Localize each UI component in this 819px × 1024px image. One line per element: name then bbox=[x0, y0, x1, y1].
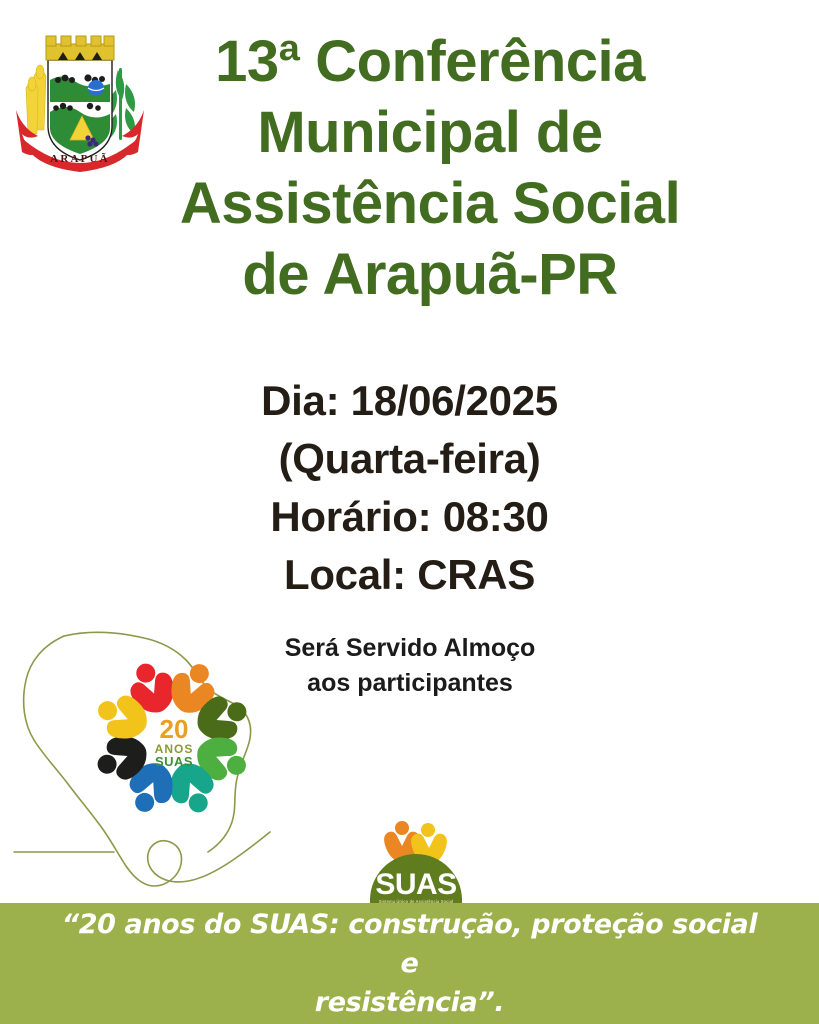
suas-logo-icon: SUAS Sistema Único de Assistência Social bbox=[364, 814, 468, 906]
title-line-3: Assistência Social bbox=[130, 168, 730, 239]
theme-line-1: “20 anos do SUAS: construção, proteção s… bbox=[55, 905, 765, 983]
suas-wordmark: SUAS bbox=[375, 868, 456, 901]
anos20-number: 20 bbox=[160, 714, 189, 744]
event-location: Local: CRAS bbox=[0, 546, 819, 604]
event-weekday: (Quarta-feira) bbox=[0, 430, 819, 488]
poster-header: ARAPUÃ 13ª Conferência Municipal de Assi… bbox=[0, 0, 819, 330]
event-date: Dia: 18/06/2025 bbox=[0, 372, 819, 430]
20-anos-suas-logo: 20 ANOS SUAS bbox=[96, 662, 248, 814]
title-line-1: 13ª Conferência bbox=[130, 26, 730, 97]
event-time: Horário: 08:30 bbox=[0, 488, 819, 546]
poster-title: 13ª Conferência Municipal de Assistência… bbox=[130, 26, 730, 310]
theme-banner-text: “20 anos do SUAS: construção, proteção s… bbox=[55, 905, 765, 1022]
theme-banner: “20 anos do SUAS: construção, proteção s… bbox=[0, 903, 819, 1024]
event-info: Dia: 18/06/2025 (Quarta-feira) Horário: … bbox=[0, 372, 819, 604]
title-line-4: de Arapuã-PR bbox=[130, 239, 730, 310]
anos20-suas: SUAS bbox=[155, 754, 193, 769]
coat-of-arms-icon: ARAPUÃ bbox=[10, 18, 150, 178]
crest-ribbon-text: ARAPUÃ bbox=[50, 153, 110, 165]
conference-poster: ARAPUÃ 13ª Conferência Municipal de Assi… bbox=[0, 0, 819, 1024]
theme-line-2: resistência”. bbox=[55, 983, 765, 1022]
title-line-2: Municipal de bbox=[130, 97, 730, 168]
